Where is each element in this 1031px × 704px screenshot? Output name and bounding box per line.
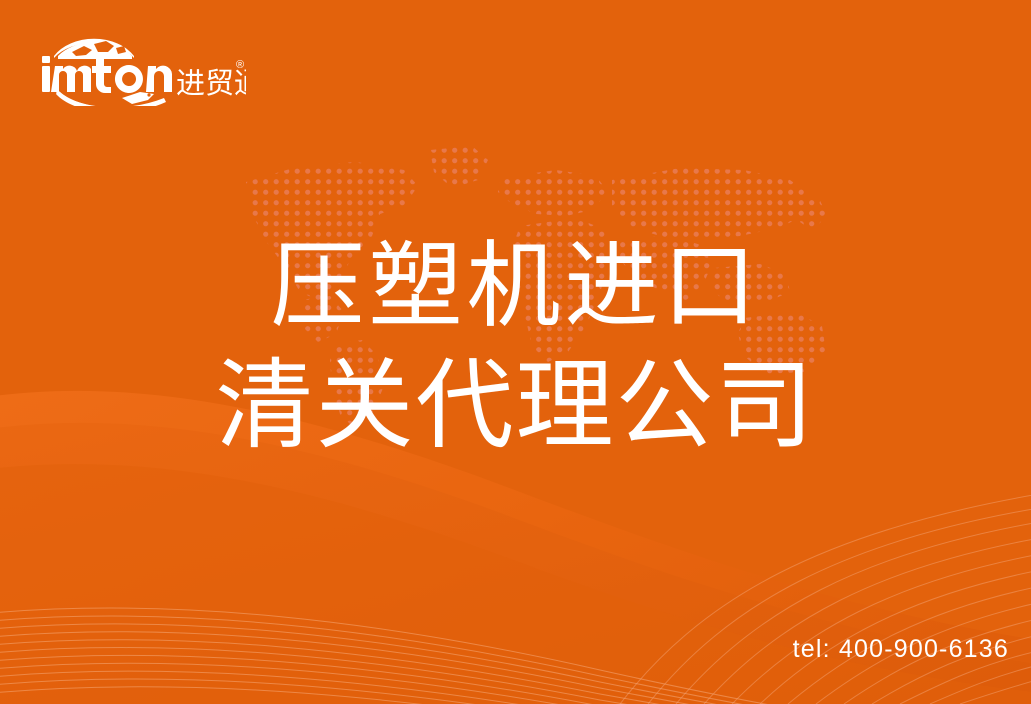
registered-mark: ® [236,59,244,71]
logo-brand-chinese: 进贸通 [176,66,246,100]
brand-logo[interactable]: 进贸通 ® [36,26,246,106]
globe-arc-icon [54,39,134,59]
contact-telephone[interactable]: tel: 400-900-6136 [793,635,1009,664]
promo-banner: 进贸通 ® 压塑机进口 清关代理公司 tel: 400-900-6136 [0,0,1031,704]
headline-line-2: 清关代理公司 [0,349,1031,465]
headline-line-1: 压塑机进口 [0,232,1031,343]
logo-wordmark-imton [42,56,172,93]
headline-block: 压塑机进口 清关代理公司 [0,232,1031,465]
